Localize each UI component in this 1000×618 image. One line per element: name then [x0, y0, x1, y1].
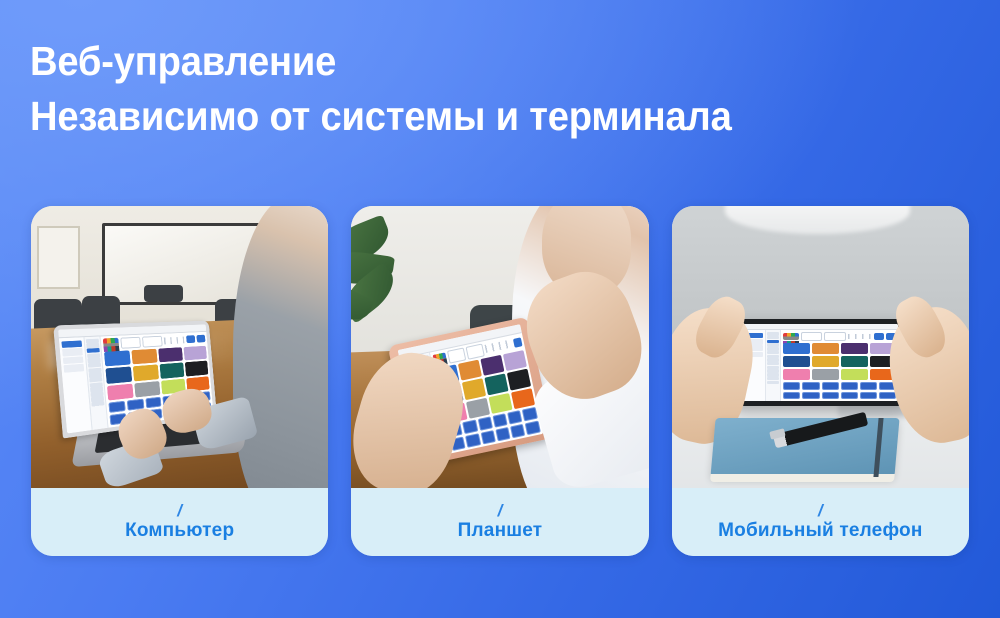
pos-tile: [185, 360, 208, 376]
pos-button: [860, 382, 877, 390]
laptop: [58, 314, 242, 469]
pos-field: [447, 347, 467, 363]
pos-button: [783, 382, 800, 390]
color-palette-icon: [102, 338, 119, 349]
pos-tile-grid: [783, 343, 896, 380]
pos-tile: [783, 369, 810, 380]
pos-tile: [103, 350, 130, 367]
pos-button: [480, 430, 495, 444]
photo-tablet: [351, 206, 648, 488]
pos-tile: [511, 388, 535, 409]
pos-field: [801, 332, 822, 341]
office-scene: [351, 206, 648, 488]
pos-tile: [134, 380, 160, 397]
pos-toolbar-button: [186, 335, 195, 343]
pos-tile: [462, 379, 486, 400]
pos-tile: [458, 359, 482, 380]
pos-button: [510, 424, 525, 438]
pos-button: [495, 427, 510, 441]
pos-field: [824, 332, 845, 341]
caption-separator: /: [498, 503, 503, 519]
pos-button: [507, 410, 522, 424]
pos-tile: [105, 366, 132, 383]
person-silhouette: [233, 206, 328, 488]
pos-button: [477, 417, 492, 431]
pos-tile: [466, 398, 490, 419]
pos-tile: [841, 343, 868, 354]
pos-tile: [131, 348, 157, 364]
pos-tile: [488, 393, 512, 414]
pos-tile: [484, 374, 508, 395]
color-palette-icon: [783, 333, 799, 341]
page-title: Веб-управление Независимо от системы и т…: [30, 34, 904, 144]
pos-toolbar-icons: [485, 340, 513, 353]
card-caption-mobile-phone: / Мобильный телефон: [672, 488, 969, 556]
pos-tile: [783, 343, 810, 354]
pos-tile: [158, 347, 183, 363]
desk-scene: [672, 206, 969, 488]
pos-toolbar-icons: [848, 334, 873, 339]
pos-number-column: [766, 330, 782, 401]
desk-speaker: [144, 285, 183, 302]
pos-toolbar-button: [512, 337, 522, 348]
pos-tile: [841, 369, 868, 380]
pos-tile: [183, 345, 206, 360]
caption-separator: /: [818, 503, 823, 519]
pos-tile: [812, 343, 839, 354]
wall-panel: [37, 226, 80, 289]
pos-field: [465, 343, 485, 359]
smartphone: [728, 319, 912, 406]
pos-button: [860, 392, 877, 400]
meeting-room-scene: [31, 206, 328, 488]
headline-line-1: Веб-управление: [30, 34, 904, 89]
pos-button: [841, 382, 858, 390]
notebook-strap: [873, 418, 883, 477]
pos-toolbar-button: [874, 333, 884, 339]
pos-button: [802, 392, 819, 400]
pos-toolbar-button: [196, 335, 205, 343]
device-card-tablet[interactable]: / Планшет: [351, 206, 648, 556]
caption-separator: /: [177, 503, 182, 519]
pos-tile: [106, 383, 133, 401]
card-label-mobile-phone: Мобильный телефон: [718, 520, 922, 542]
pos-button: [492, 414, 507, 428]
pos-tile: [480, 355, 504, 376]
photo-computer: [31, 206, 328, 488]
pos-body: [742, 330, 898, 401]
pos-button: [525, 421, 540, 435]
pos-toolbar-icons: [163, 336, 184, 343]
pos-main: [781, 330, 898, 401]
promo-banner: Веб-управление Независимо от системы и т…: [0, 0, 1000, 618]
pos-field: [120, 336, 141, 348]
headline-line-2: Независимо от системы и терминала: [30, 89, 904, 144]
pos-button: [783, 392, 800, 400]
device-card-computer[interactable]: / Компьютер: [31, 206, 328, 556]
pos-tile: [812, 369, 839, 380]
pos-tile: [783, 356, 810, 367]
device-card-mobile-phone[interactable]: / Мобильный телефон: [672, 206, 969, 556]
pos-field: [142, 335, 162, 347]
pos-button: [802, 382, 819, 390]
pos-button: [822, 392, 839, 400]
pos-toolbar: [783, 332, 896, 341]
pos-button: [145, 397, 161, 409]
pos-tile: [841, 356, 868, 367]
potted-plant: [351, 217, 422, 352]
card-caption-tablet: / Планшет: [351, 488, 648, 556]
card-label-computer: Компьютер: [125, 520, 234, 542]
pos-tile: [503, 350, 527, 371]
photo-mobile-phone: [672, 206, 969, 488]
card-label-tablet: Планшет: [458, 520, 543, 542]
card-caption-computer: / Компьютер: [31, 488, 328, 556]
pos-tile: [159, 362, 183, 378]
pos-interface: [742, 324, 898, 401]
pos-tile: [133, 364, 159, 381]
pos-button: [108, 401, 126, 413]
pos-button: [841, 392, 858, 400]
pos-button: [462, 420, 477, 434]
device-card-list: / Компьютер: [31, 206, 969, 556]
pos-button-row: [783, 382, 896, 399]
notebook-pages: [710, 474, 895, 482]
pos-button: [822, 382, 839, 390]
pos-tile: [812, 356, 839, 367]
pos-button: [465, 433, 480, 447]
pos-tile: [507, 369, 531, 390]
